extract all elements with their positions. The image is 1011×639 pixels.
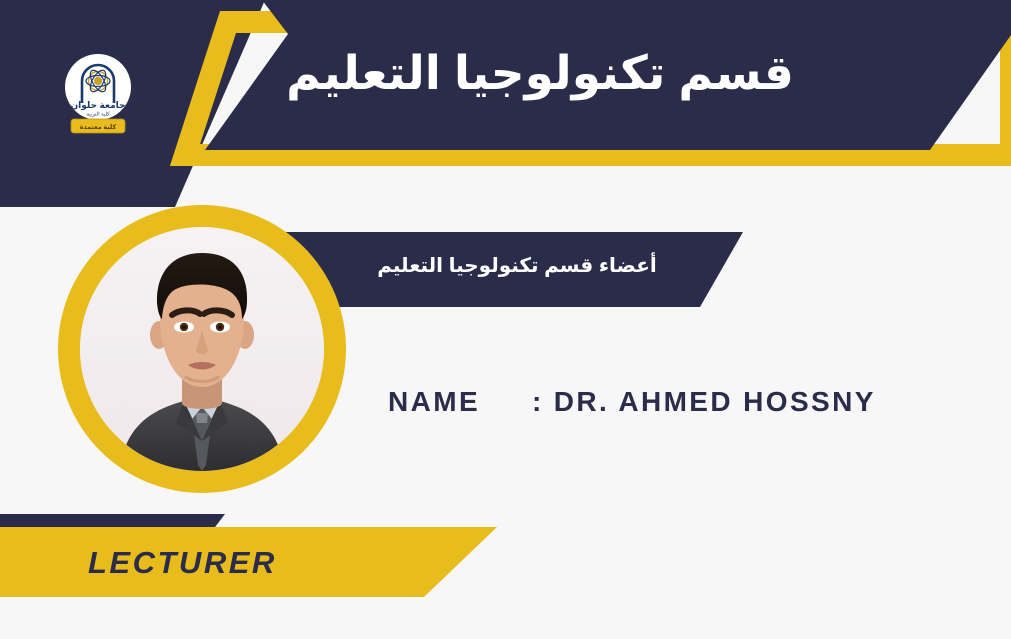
section-subtitle: أعضاء قسم تكنولوجيا التعليم <box>352 253 682 278</box>
name-separator: : <box>532 386 544 418</box>
name-label: NAME <box>388 386 480 418</box>
member-name-value: DR. AHMED HOSSNY <box>554 386 876 418</box>
logo-university-name: جامعة حلوان <box>70 100 125 111</box>
logo-faculty-name: كلية التربية <box>86 112 110 118</box>
page-title: قسم تكنولوجيا التعليم <box>250 44 830 103</box>
member-role: LECTURER <box>88 545 277 581</box>
logo-badge-text: كلية معتمدة <box>80 124 117 131</box>
avatar <box>58 205 346 493</box>
university-logo: جامعة حلوان كلية التربية كلية معتمدة <box>62 47 134 139</box>
member-name-row: NAME : DR. AHMED HOSSNY <box>388 386 876 418</box>
portrait-photo <box>80 227 324 471</box>
faculty-member-card: جامعة حلوان كلية التربية كلية معتمدة قسم… <box>0 0 1011 639</box>
